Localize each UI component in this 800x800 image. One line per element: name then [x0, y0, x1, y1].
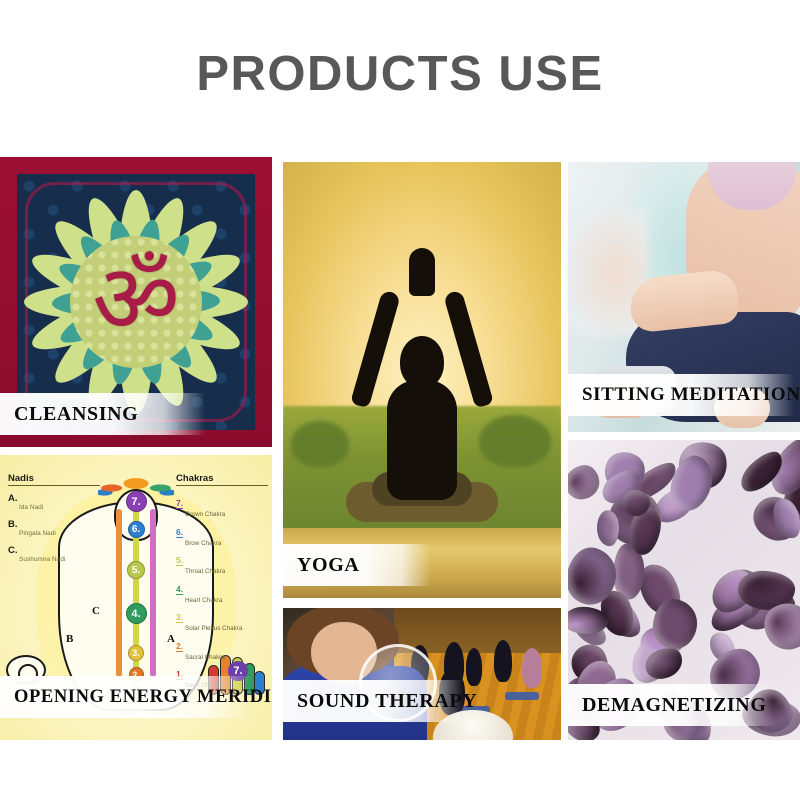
chakras-item-name: Solar Plexus Chakra [185, 625, 268, 632]
pointer-label-c: C [92, 605, 100, 617]
nadis-item-name: Pingala Nadi [19, 530, 100, 537]
tile-label-opening-energy-meridians: OPENING ENERGY MERIDIANS [0, 676, 252, 718]
tile-label-demagnetizing: DEMAGNETIZING [568, 684, 774, 726]
tile-yoga[interactable]: YOGA [283, 162, 561, 598]
chakras-item: 3. Solar Plexus Chakra [176, 607, 268, 632]
torso [387, 380, 457, 500]
pointer-label-b: B [66, 633, 73, 645]
tile-label-text: SITTING MEDITATION [582, 384, 800, 406]
pointer-label-a: A [167, 633, 175, 645]
chakras-item-name: Heart Chakra [185, 597, 268, 604]
chakras-item-name: Brow Chakra [185, 540, 268, 547]
nadis-heading: Nadis [8, 473, 100, 486]
chakras-item: 2. Sacral Chakra [176, 636, 268, 661]
tile-sitting-meditation[interactable]: SITTING MEDITATION [568, 162, 800, 432]
nadis-item: C. Sushumna Nadi [8, 545, 100, 563]
chakra-dot-5: 5. [127, 561, 145, 579]
chakras-item-num: 7. [176, 498, 183, 509]
tile-grid: ॐ CLEANSING 7. 6. 5. 4. 3. 2. 1. [0, 0, 800, 800]
chakra-dot-6: 6. [128, 521, 145, 538]
tile-label-text: DEMAGNETIZING [582, 694, 767, 717]
chakras-item: 4. Heart Chakra [176, 579, 268, 604]
nadi-pingala-line [150, 509, 156, 677]
chakras-item-name: Crown Chakra [185, 511, 268, 518]
nadis-item-key: B. [8, 519, 100, 530]
yoga-figure-silhouette [344, 228, 500, 528]
nadis-item-key: A. [8, 493, 100, 504]
mandala-center-disc: ॐ [70, 236, 202, 368]
chakras-legend: Chakras 7. Crown Chakra 6. Brow Chakra 5… [176, 473, 268, 693]
tile-demagnetizing[interactable]: DEMAGNETIZING [568, 440, 800, 740]
class-participant [494, 640, 512, 682]
chakras-item-num: 4. [176, 584, 183, 595]
tile-label-sound-therapy: SOUND THERAPY [283, 680, 463, 722]
prayer-hands [409, 248, 435, 296]
tile-label-sitting-meditation: SITTING MEDITATION [568, 374, 794, 416]
chakras-item-name: Throat Chakra [185, 568, 268, 575]
nadis-item-name: Ida Nadi [19, 504, 100, 511]
tile-cleansing[interactable]: ॐ CLEANSING [0, 157, 272, 447]
om-icon: ॐ [92, 256, 180, 342]
tile-opening-energy-meridians[interactable]: 7. 6. 5. 4. 3. 2. 1. 7. C B A Nadis [0, 455, 272, 740]
chakras-item-num: 2. [176, 641, 183, 652]
background-tree [291, 421, 349, 467]
chakra-dot-3: 3. [128, 645, 144, 661]
tile-label-text: SOUND THERAPY [297, 690, 477, 713]
nadis-item-key: C. [8, 545, 100, 556]
chakra-dot-7: 7. [126, 491, 147, 512]
tile-label-text: YOGA [297, 554, 359, 577]
nadis-item: A. Ida Nadi [8, 493, 100, 511]
nadis-legend: Nadis A. Ida Nadi B. Pingala Nadi C. Sus… [8, 473, 100, 571]
chakras-item-num: 6. [176, 527, 183, 538]
nadi-ida-line [116, 509, 122, 677]
chakras-item: 6. Brow Chakra [176, 522, 268, 547]
tile-label-text: CLEANSING [14, 403, 138, 426]
chakra-dot-4: 4. [126, 603, 147, 624]
chakras-item-num: 5. [176, 555, 183, 566]
chakras-item-num: 3. [176, 612, 183, 623]
chakras-heading: Chakras [176, 473, 268, 486]
class-participant [522, 648, 542, 688]
chakras-item: 7. Crown Chakra [176, 493, 268, 518]
tile-sound-therapy[interactable]: SOUND THERAPY [283, 608, 561, 740]
tile-label-text: OPENING ENERGY MERIDIANS [14, 687, 272, 708]
nadis-item-name: Sushumna Nadi [19, 556, 100, 563]
nadis-item: B. Pingala Nadi [8, 519, 100, 537]
tile-label-yoga: YOGA [283, 544, 431, 586]
chakras-item: 5. Throat Chakra [176, 550, 268, 575]
tile-label-cleansing: CLEANSING [0, 393, 205, 435]
yoga-mat [505, 692, 539, 700]
chakras-item-name: Sacral Chakra [185, 654, 268, 661]
